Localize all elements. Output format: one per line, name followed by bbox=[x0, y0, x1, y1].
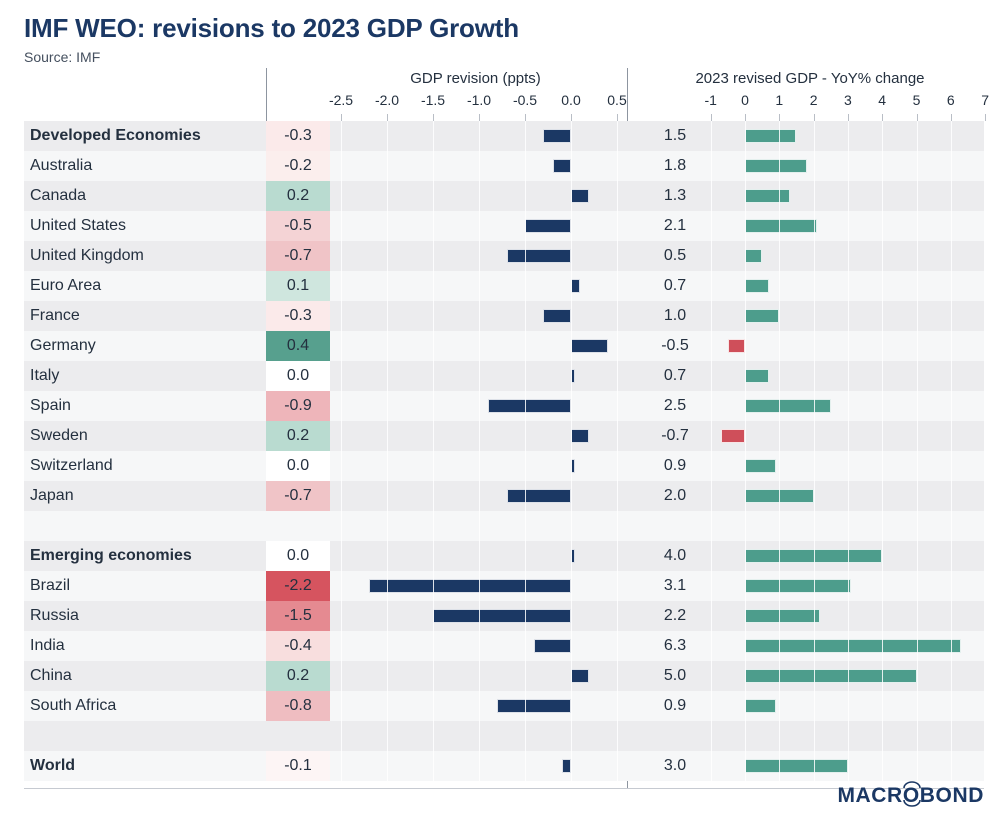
table-row[interactable]: France-0.31.0 bbox=[24, 301, 984, 331]
revised-gdp-value-cell bbox=[644, 511, 706, 541]
table-row[interactable]: United Kingdom-0.70.5 bbox=[24, 241, 984, 271]
chart-table: GDP revision (ppts) 2023 revised GDP - Y… bbox=[24, 68, 984, 788]
row-label: Japan bbox=[30, 481, 74, 511]
revision-value-cell: -0.4 bbox=[266, 631, 330, 661]
row-label: Developed Economies bbox=[30, 121, 201, 151]
right-axis-tick-label: 1 bbox=[775, 92, 783, 108]
row-label: France bbox=[30, 301, 80, 331]
revision-bar bbox=[507, 249, 571, 263]
row-label: Germany bbox=[30, 331, 96, 361]
right-axis-tick-label: -1 bbox=[704, 92, 716, 108]
revised-gdp-value-cell bbox=[644, 721, 706, 751]
right-axis-tick-label: 6 bbox=[947, 92, 955, 108]
left-panel-title: GDP revision (ppts) bbox=[291, 70, 660, 87]
revised-gdp-value-cell: 0.7 bbox=[644, 361, 706, 391]
revision-value-cell: 0.2 bbox=[266, 421, 330, 451]
row-label: India bbox=[30, 631, 65, 661]
revised-gdp-value-cell: 3.1 bbox=[644, 571, 706, 601]
revised-gdp-bar bbox=[745, 489, 814, 503]
revision-value-cell: 0.2 bbox=[266, 181, 330, 211]
revision-value-cell: -0.8 bbox=[266, 691, 330, 721]
chart-header: IMF WEO: revisions to 2023 GDP Growth So… bbox=[24, 14, 519, 65]
row-label: South Africa bbox=[30, 691, 116, 721]
revised-gdp-bar bbox=[745, 369, 769, 383]
revision-value-cell: -0.7 bbox=[266, 481, 330, 511]
revised-gdp-bar bbox=[745, 639, 961, 653]
revision-bar bbox=[543, 309, 571, 323]
revised-gdp-bar bbox=[745, 759, 848, 773]
revision-bar bbox=[571, 279, 580, 293]
revised-gdp-bar bbox=[745, 219, 817, 233]
revision-value-cell: -0.7 bbox=[266, 241, 330, 271]
revision-bar bbox=[571, 339, 608, 353]
left-axis-tick-label: -2.5 bbox=[329, 92, 353, 108]
right-axis-tick-mark bbox=[848, 114, 849, 121]
revision-bar bbox=[433, 609, 571, 623]
logo-o-glyph: O bbox=[903, 784, 920, 808]
revised-gdp-bar bbox=[745, 669, 917, 683]
logo-text-part: MACR bbox=[837, 784, 902, 807]
revised-gdp-value-cell: 4.0 bbox=[644, 541, 706, 571]
table-row[interactable]: Sweden0.2-0.7 bbox=[24, 421, 984, 451]
revision-value-cell bbox=[266, 511, 330, 541]
table-row[interactable] bbox=[24, 721, 984, 751]
chart-source: Source: IMF bbox=[24, 49, 519, 65]
right-axis-tick-label: 4 bbox=[878, 92, 886, 108]
revised-gdp-bar bbox=[745, 159, 807, 173]
revision-bar bbox=[534, 639, 571, 653]
revised-gdp-bar bbox=[721, 429, 745, 443]
revised-gdp-bar bbox=[745, 129, 796, 143]
table-row[interactable]: World-0.13.0 bbox=[24, 751, 984, 781]
right-axis-tick-label: 0 bbox=[741, 92, 749, 108]
revision-value-cell: 0.2 bbox=[266, 661, 330, 691]
plot-gridline bbox=[985, 121, 986, 788]
row-label: Euro Area bbox=[30, 271, 101, 301]
right-axis-tick-label: 7 bbox=[981, 92, 989, 108]
table-row[interactable] bbox=[24, 511, 984, 541]
vsep-left-panel bbox=[266, 68, 267, 121]
revised-gdp-value-cell: 6.3 bbox=[644, 631, 706, 661]
left-axis-tick-mark bbox=[433, 114, 434, 121]
revised-gdp-bar bbox=[745, 249, 762, 263]
table-row[interactable]: Canada0.21.3 bbox=[24, 181, 984, 211]
revised-gdp-value-cell: -0.7 bbox=[644, 421, 706, 451]
left-axis-tick-mark bbox=[387, 114, 388, 121]
table-row[interactable]: Italy0.00.7 bbox=[24, 361, 984, 391]
left-axis-tick-mark bbox=[479, 114, 480, 121]
row-label: Australia bbox=[30, 151, 92, 181]
revision-bar bbox=[571, 369, 575, 383]
right-axis-tick-mark bbox=[745, 114, 746, 121]
row-label: Russia bbox=[30, 601, 79, 631]
revision-value-cell bbox=[266, 721, 330, 751]
row-label: China bbox=[30, 661, 72, 691]
revision-value-cell: 0.0 bbox=[266, 361, 330, 391]
table-row[interactable]: Spain-0.92.5 bbox=[24, 391, 984, 421]
right-panel-title: 2023 revised GDP - YoY% change bbox=[636, 70, 984, 87]
revised-gdp-value-cell: 3.0 bbox=[644, 751, 706, 781]
revision-bar bbox=[553, 159, 571, 173]
revision-value-cell: -1.5 bbox=[266, 601, 330, 631]
revised-gdp-value-cell: 0.5 bbox=[644, 241, 706, 271]
table-row[interactable]: China0.25.0 bbox=[24, 661, 984, 691]
left-axis-tick-label: -1.0 bbox=[467, 92, 491, 108]
rows-area: Developed Economies-0.31.5Australia-0.21… bbox=[24, 121, 984, 781]
revision-value-cell: -0.3 bbox=[266, 121, 330, 151]
revised-gdp-bar bbox=[745, 459, 776, 473]
left-axis-tick-mark bbox=[525, 114, 526, 121]
revision-bar bbox=[571, 669, 589, 683]
revision-bar bbox=[488, 399, 571, 413]
revised-gdp-value-cell: 2.2 bbox=[644, 601, 706, 631]
revision-bar bbox=[571, 549, 575, 563]
table-row[interactable]: Switzerland0.00.9 bbox=[24, 451, 984, 481]
revision-bar bbox=[369, 579, 571, 593]
table-row[interactable]: Russia-1.52.2 bbox=[24, 601, 984, 631]
right-axis-tick-mark bbox=[779, 114, 780, 121]
revision-value-cell: -0.3 bbox=[266, 301, 330, 331]
right-axis-tick-mark bbox=[814, 114, 815, 121]
revised-gdp-bar bbox=[728, 339, 745, 353]
revision-value-cell: -0.9 bbox=[266, 391, 330, 421]
table-row[interactable]: Brazil-2.23.1 bbox=[24, 571, 984, 601]
row-label: Sweden bbox=[30, 421, 88, 451]
revised-gdp-value-cell: 2.0 bbox=[644, 481, 706, 511]
macrobond-logo: MACROBOND bbox=[837, 784, 984, 808]
row-label: Brazil bbox=[30, 571, 70, 601]
revised-gdp-bar bbox=[745, 549, 882, 563]
revised-gdp-value-cell: 2.5 bbox=[644, 391, 706, 421]
table-row[interactable]: United States-0.52.1 bbox=[24, 211, 984, 241]
revised-gdp-value-cell: 0.9 bbox=[644, 451, 706, 481]
row-label: United Kingdom bbox=[30, 241, 144, 271]
row-label: Spain bbox=[30, 391, 71, 421]
table-row[interactable]: Australia-0.21.8 bbox=[24, 151, 984, 181]
revision-bar bbox=[571, 189, 589, 203]
right-axis-tick-label: 5 bbox=[913, 92, 921, 108]
right-axis-tick-label: 3 bbox=[844, 92, 852, 108]
revised-gdp-value-cell: 1.8 bbox=[644, 151, 706, 181]
row-label: Italy bbox=[30, 361, 59, 391]
revised-gdp-value-cell: -0.5 bbox=[644, 331, 706, 361]
macrobond-wordmark: MACROBOND bbox=[837, 784, 984, 808]
revised-gdp-value-cell: 1.0 bbox=[644, 301, 706, 331]
right-axis-tick-mark bbox=[951, 114, 952, 121]
left-axis-tick-label: -1.5 bbox=[421, 92, 445, 108]
left-axis-tick-label: 0.0 bbox=[561, 92, 580, 108]
revision-value-cell: 0.4 bbox=[266, 331, 330, 361]
revision-value-cell: 0.0 bbox=[266, 451, 330, 481]
left-axis-tick-mark bbox=[341, 114, 342, 121]
revised-gdp-bar bbox=[745, 609, 820, 623]
right-axis-tick-label: 2 bbox=[810, 92, 818, 108]
revised-gdp-bar bbox=[745, 399, 831, 413]
revision-bar bbox=[562, 759, 571, 773]
table-row[interactable]: Developed Economies-0.31.5 bbox=[24, 121, 984, 151]
table-row[interactable]: India-0.46.3 bbox=[24, 631, 984, 661]
revision-bar bbox=[497, 699, 571, 713]
table-row[interactable]: Japan-0.72.0 bbox=[24, 481, 984, 511]
revision-value-cell: -0.2 bbox=[266, 151, 330, 181]
left-axis-tick-mark bbox=[617, 114, 618, 121]
left-axis-tick-mark bbox=[571, 114, 572, 121]
revised-gdp-bar bbox=[745, 309, 779, 323]
revision-value-cell: 0.1 bbox=[266, 271, 330, 301]
logo-text-part: BOND bbox=[920, 784, 984, 807]
revised-gdp-bar bbox=[745, 189, 790, 203]
table-row[interactable]: Euro Area0.10.7 bbox=[24, 271, 984, 301]
left-axis-tick-label: -2.0 bbox=[375, 92, 399, 108]
right-axis-tick-mark bbox=[985, 114, 986, 121]
revised-gdp-bar bbox=[745, 699, 776, 713]
revised-gdp-value-cell: 0.7 bbox=[644, 271, 706, 301]
table-row[interactable]: Emerging economies0.04.0 bbox=[24, 541, 984, 571]
right-axis-tick-mark bbox=[711, 114, 712, 121]
row-label: Switzerland bbox=[30, 451, 113, 481]
right-axis-tick-mark bbox=[882, 114, 883, 121]
revision-bar bbox=[525, 219, 571, 233]
table-row[interactable]: South Africa-0.80.9 bbox=[24, 691, 984, 721]
left-axis-tick-label: 0.5 bbox=[607, 92, 626, 108]
revision-bar bbox=[571, 429, 589, 443]
row-label: World bbox=[30, 751, 75, 781]
revision-value-cell: -0.5 bbox=[266, 211, 330, 241]
right-axis-tick-mark bbox=[917, 114, 918, 121]
table-row[interactable]: Germany0.4-0.5 bbox=[24, 331, 984, 361]
row-label: United States bbox=[30, 211, 126, 241]
revision-value-cell: -2.2 bbox=[266, 571, 330, 601]
row-label: Emerging economies bbox=[30, 541, 192, 571]
revised-gdp-bar bbox=[745, 279, 769, 293]
revision-bar bbox=[543, 129, 571, 143]
revised-gdp-value-cell: 5.0 bbox=[644, 661, 706, 691]
revision-bar bbox=[571, 459, 575, 473]
left-axis-tick-label: -0.5 bbox=[513, 92, 537, 108]
revised-gdp-value-cell: 2.1 bbox=[644, 211, 706, 241]
revision-bar bbox=[507, 489, 571, 503]
row-label: Canada bbox=[30, 181, 86, 211]
revision-value-cell: -0.1 bbox=[266, 751, 330, 781]
revised-gdp-value-cell: 0.9 bbox=[644, 691, 706, 721]
revised-gdp-value-cell: 1.5 bbox=[644, 121, 706, 151]
revision-value-cell: 0.0 bbox=[266, 541, 330, 571]
revised-gdp-bar bbox=[745, 579, 851, 593]
page-title: IMF WEO: revisions to 2023 GDP Growth bbox=[24, 14, 519, 43]
revised-gdp-value-cell: 1.3 bbox=[644, 181, 706, 211]
